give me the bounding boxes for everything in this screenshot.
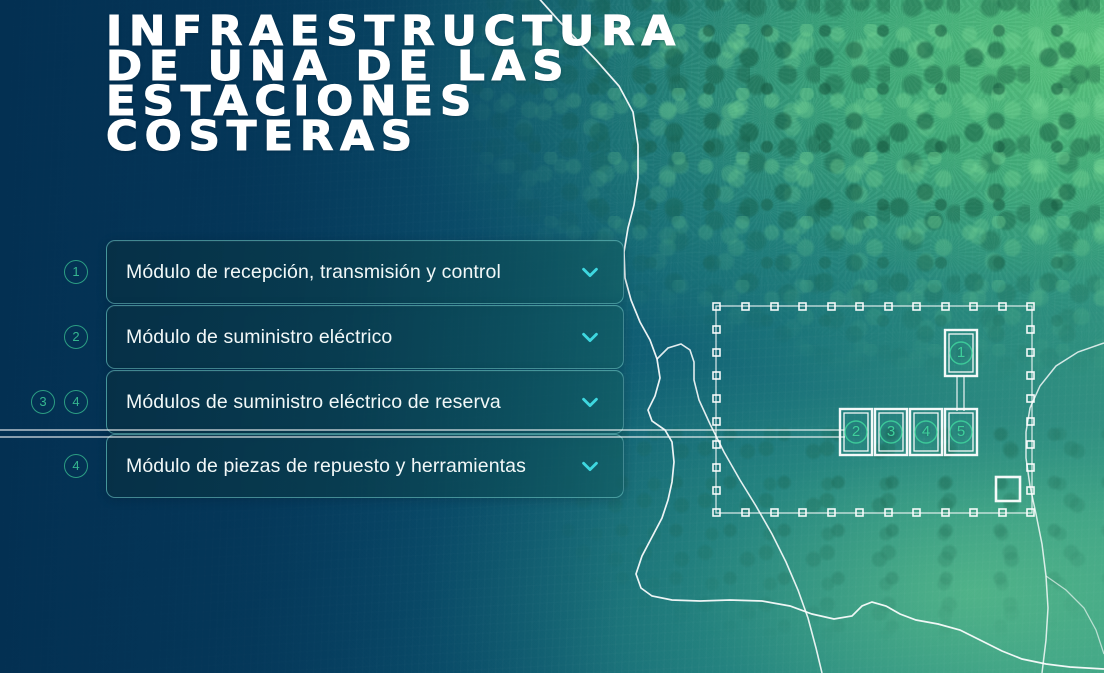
- accordion-item-label: Módulos de suministro eléctrico de reser…: [126, 391, 501, 414]
- chevron-down-icon[interactable]: [579, 261, 601, 283]
- module-number-5: 5: [950, 421, 972, 443]
- module-number-4: 4: [915, 421, 937, 443]
- accordion-item-label: Módulo de recepción, transmisión y contr…: [126, 261, 501, 284]
- accordion-item-label: Módulo de suministro eléctrico: [126, 326, 392, 349]
- module-badge-4a: 4: [64, 390, 88, 414]
- accordion-item-4[interactable]: Módulo de piezas de repuesto y herramien…: [106, 434, 624, 498]
- chevron-down-icon[interactable]: [579, 391, 601, 413]
- page-title: INFRAESTRUCTURA DE UNA DE LAS ESTACIONES…: [106, 14, 763, 154]
- accordion-item-2[interactable]: Módulo de suministro eléctrico: [106, 305, 624, 369]
- module-badge-1: 1: [64, 260, 88, 284]
- module-badge-4b: 4: [64, 454, 88, 478]
- slide-root: INFRAESTRUCTURA DE UNA DE LAS ESTACIONES…: [0, 0, 1104, 673]
- module-number-1: 1: [950, 342, 972, 364]
- chevron-down-icon[interactable]: [579, 455, 601, 477]
- accordion-item-1[interactable]: Módulo de recepción, transmisión y contr…: [106, 240, 624, 304]
- accordion-item-3[interactable]: Módulos de suministro eléctrico de reser…: [106, 370, 624, 434]
- chevron-down-icon[interactable]: [579, 326, 601, 348]
- module-number-3: 3: [880, 421, 902, 443]
- module-number-2: 2: [845, 421, 867, 443]
- module-badge-2: 2: [64, 325, 88, 349]
- module-badge-3: 3: [31, 390, 55, 414]
- accordion-item-label: Módulo de piezas de repuesto y herramien…: [126, 455, 526, 478]
